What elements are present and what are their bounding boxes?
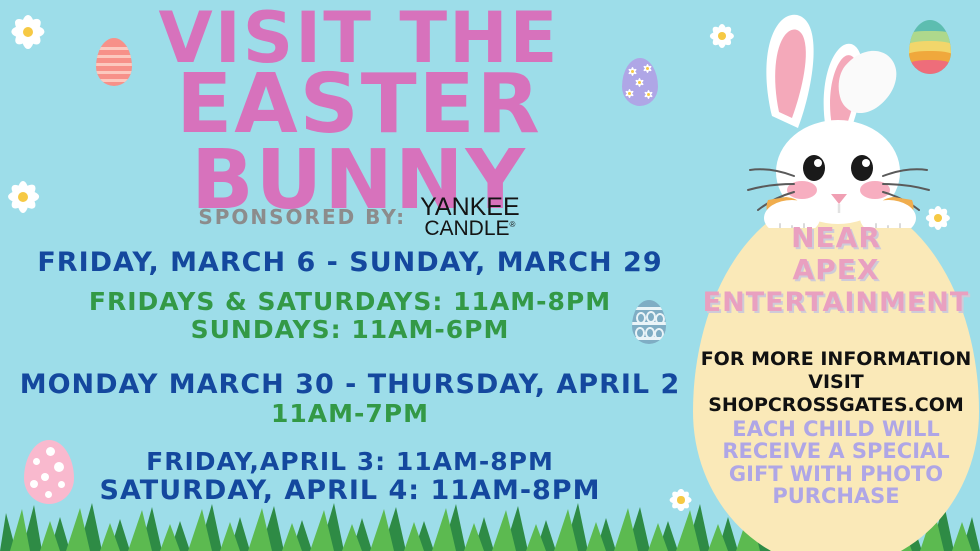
yankee-candle-line-1: YANKEE bbox=[420, 196, 520, 219]
easter-bunny-illustration bbox=[742, 4, 938, 228]
near-line-3: ENTERTAINMENT bbox=[693, 287, 979, 318]
poster-headline: VISIT THE EASTER BUNNY bbox=[0, 6, 718, 220]
website-link[interactable]: VISIT SHOPCROSSGATES.COM bbox=[693, 371, 979, 417]
schedule-line: SUNDAYS: 11AM-6PM bbox=[0, 316, 700, 344]
schedule-line: 11AM-7PM bbox=[0, 400, 700, 428]
gift-line-2: RECEIVE A SPECIAL bbox=[693, 440, 979, 462]
yankee-candle-line-2: CANDLE® bbox=[420, 219, 520, 238]
schedule-line: FRIDAYS & SATURDAYS: 11AM-8PM bbox=[0, 288, 700, 316]
gift-line-1: EACH CHILD WILL bbox=[693, 418, 979, 440]
near-line-1: NEAR bbox=[693, 222, 979, 254]
registered-trademark-icon: ® bbox=[510, 220, 516, 229]
schedule-block: FRIDAY, MARCH 6 - SUNDAY, MARCH 29 FRIDA… bbox=[0, 248, 700, 507]
sponsored-by-label: SPONSORED BY: bbox=[198, 205, 406, 229]
bunny-left-ear bbox=[766, 15, 813, 128]
info-egg-text: NEAR APEX ENTERTAINMENT FOR MORE INFORMA… bbox=[693, 196, 979, 551]
sponsor-row: SPONSORED BY: YANKEE CANDLE® bbox=[0, 196, 718, 238]
near-apex-entertainment-heading: NEAR APEX ENTERTAINMENT bbox=[693, 222, 979, 318]
more-information-text: FOR MORE INFORMATION VISIT SHOPCROSSGATE… bbox=[693, 348, 979, 416]
schedule-line: SATURDAY, APRIL 4: 11AM-8PM bbox=[0, 476, 700, 506]
schedule-line: MONDAY MARCH 30 - THURSDAY, APRIL 2 bbox=[0, 370, 700, 400]
schedule-line: FRIDAY, MARCH 6 - SUNDAY, MARCH 29 bbox=[0, 248, 700, 278]
yankee-candle-word: CANDLE bbox=[424, 217, 509, 240]
gift-line-4: PURCHASE bbox=[693, 485, 979, 507]
gift-line-3: GIFT WITH PHOTO bbox=[693, 463, 979, 485]
info-line-1: FOR MORE INFORMATION bbox=[693, 348, 979, 371]
near-line-2: APEX bbox=[693, 254, 979, 286]
easter-poster: VISIT THE EASTER BUNNY SPONSORED BY: YAN… bbox=[0, 0, 980, 551]
schedule-line: FRIDAY,APRIL 3: 11AM-8PM bbox=[0, 448, 700, 476]
gift-offer-text: EACH CHILD WILL RECEIVE A SPECIAL GIFT W… bbox=[693, 418, 979, 507]
yankee-candle-logo: YANKEE CANDLE® bbox=[420, 196, 520, 238]
